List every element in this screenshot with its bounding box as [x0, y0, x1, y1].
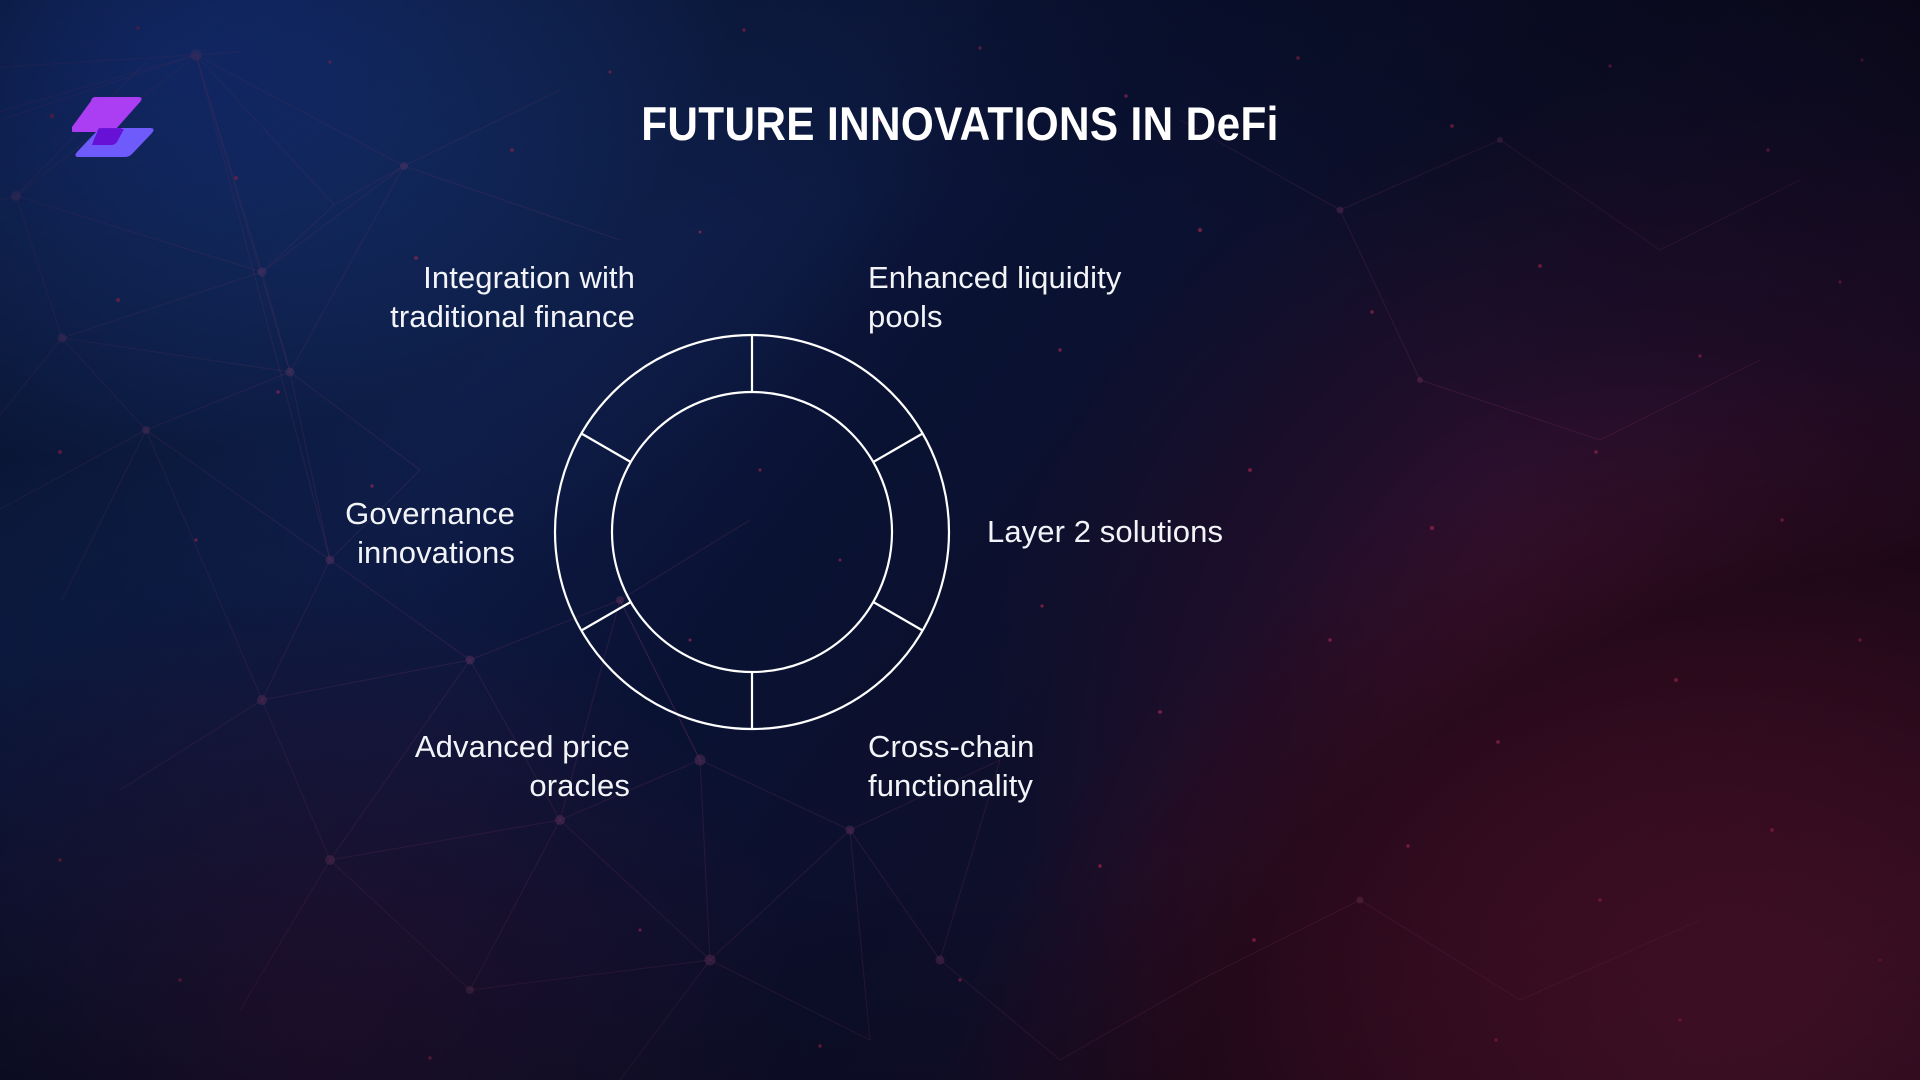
label-enhanced-liquidity-pools: Enhanced liquidity pools [868, 258, 1198, 337]
label-cross-chain-functionality: Cross-chain functionality [868, 727, 1198, 806]
donut-inner-circle [612, 392, 892, 672]
label-integration-with-traditional-finance: Integration with traditional finance [315, 258, 635, 337]
slide-canvas: FUTURE INNOVATIONS IN DeFi Integration w… [0, 0, 1920, 1080]
donut-outer-circle [555, 335, 949, 729]
donut-divider-120 [873, 602, 922, 631]
donut-divider-300 [581, 434, 630, 463]
label-layer-2-solutions: Layer 2 solutions [987, 512, 1317, 551]
page-title: FUTURE INNOVATIONS IN DeFi [96, 96, 1824, 151]
label-advanced-price-oracles: Advanced price oracles [315, 727, 630, 806]
donut-divider-240 [581, 602, 630, 631]
donut-divider-60 [873, 434, 922, 463]
label-governance-innovations: Governance innovations [218, 494, 515, 573]
donut-diagram [546, 326, 958, 738]
